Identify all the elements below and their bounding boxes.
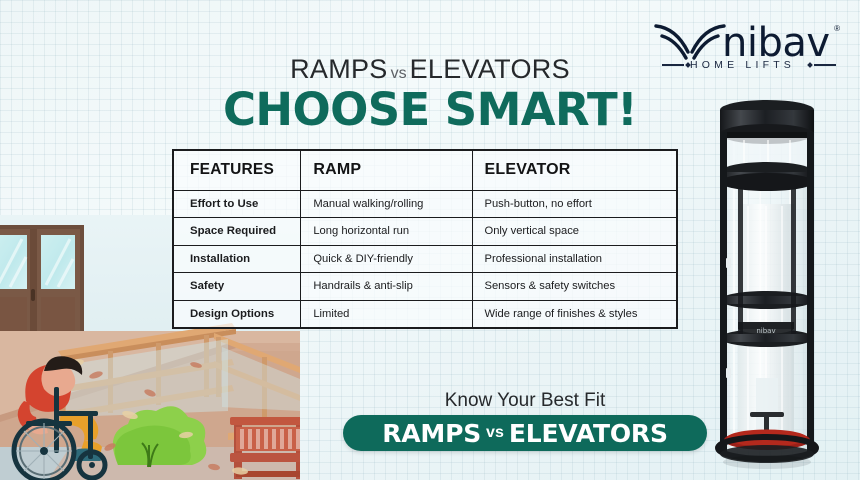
- page-kicker: RAMPSvsELEVATORS: [0, 54, 860, 85]
- call-button-lower[interactable]: [726, 368, 731, 378]
- footer-subtitle: Know Your Best Fit: [350, 390, 700, 412]
- ramp-value: Limited: [301, 300, 472, 328]
- elevator-car-brand: nibav: [756, 327, 775, 335]
- column-header-ramp: RAMP: [301, 150, 472, 190]
- feature-label: Installation: [173, 245, 301, 273]
- ramp-value: Manual walking/rolling: [301, 190, 472, 218]
- logo-registered-mark: ®: [834, 24, 840, 33]
- banner-left: RAMPS: [382, 419, 481, 448]
- feature-label: Space Required: [173, 218, 301, 246]
- footer-banner: RAMPSvsELEVATORS: [343, 415, 707, 451]
- column-header-features: FEATURES: [173, 150, 301, 190]
- ramp-value: Long horizontal run: [301, 218, 472, 246]
- banner-right: ELEVATORS: [509, 419, 668, 448]
- kicker-right: ELEVATORS: [410, 54, 570, 84]
- elevator-svg: nibav: [704, 86, 830, 476]
- feature-label: Safety: [173, 273, 301, 301]
- call-button[interactable]: [726, 258, 731, 268]
- glass-home-elevator-illustration: nibav: [704, 86, 830, 476]
- table-row: Safety Handrails & anti-slip Sensors & s…: [173, 273, 677, 301]
- table-row: Effort to Use Manual walking/rolling Pus…: [173, 190, 677, 218]
- table-header-row: FEATURES RAMP ELEVATOR: [173, 150, 677, 190]
- banner-vs: vs: [481, 424, 509, 442]
- table-row: Space Required Long horizontal run Only …: [173, 218, 677, 246]
- ramp-value: Handrails & anti-slip: [301, 273, 472, 301]
- table-row: Installation Quick & DIY-friendly Profes…: [173, 245, 677, 273]
- feature-label: Design Options: [173, 300, 301, 328]
- elevator-value: Sensors & safety switches: [472, 273, 677, 301]
- elevator-value: Push-button, no effort: [472, 190, 677, 218]
- elevator-value: Wide range of finishes & styles: [472, 300, 677, 328]
- elevator-value: Professional installation: [472, 245, 677, 273]
- infographic-canvas: nibav ® HOME LIFTS RAMPSvsELEVATORS CHOO…: [0, 0, 860, 480]
- table-row: Design Options Limited Wide range of fin…: [173, 300, 677, 328]
- kicker-vs: vs: [388, 65, 410, 82]
- kicker-left: RAMPS: [290, 54, 388, 84]
- elevator-value: Only vertical space: [472, 218, 677, 246]
- feature-label: Effort to Use: [173, 190, 301, 218]
- ramp-value: Quick & DIY-friendly: [301, 245, 472, 273]
- comparison-table: FEATURES RAMP ELEVATOR Effort to Use Man…: [172, 149, 678, 329]
- column-header-elevator: ELEVATOR: [472, 150, 677, 190]
